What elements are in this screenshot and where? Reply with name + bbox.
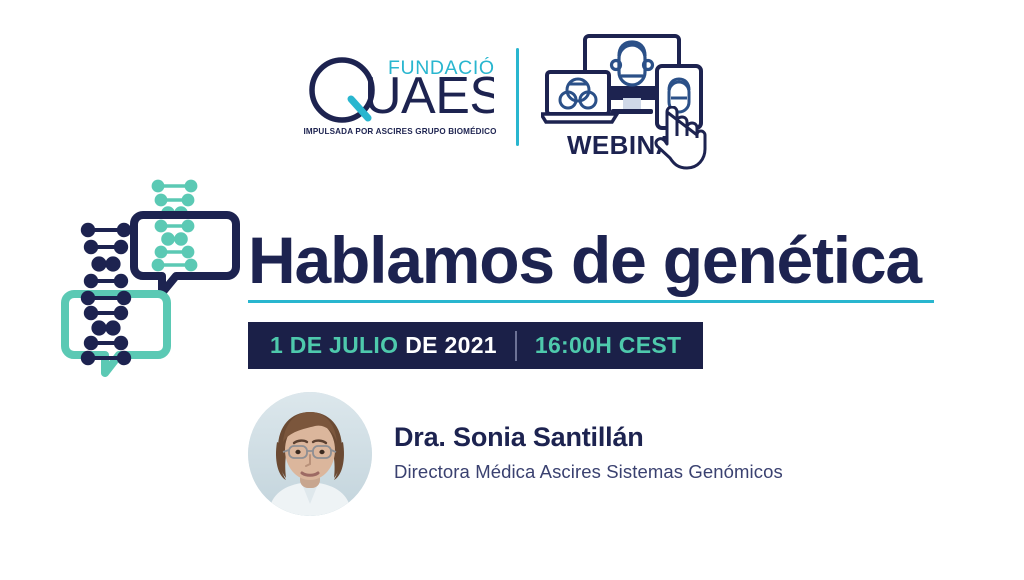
webinar-badge: WEBINAR [541, 34, 721, 164]
header: FUNDACIÓN UAES IMPULSADA POR ASCIRES GRU… [0, 34, 1024, 164]
laptop-icon [541, 72, 617, 122]
fundacion-quaes-logo: FUNDACIÓN UAES IMPULSADA POR ASCIRES GRU… [304, 48, 494, 160]
svg-text:UAES: UAES [364, 67, 494, 125]
title-underline-rule [248, 300, 934, 303]
event-year: DE 2021 [405, 332, 497, 358]
event-date: 1 DE JULIODE 2021 [270, 332, 497, 359]
event-time: 16:00H CEST [535, 332, 681, 359]
webinar-poster: FUNDACIÓN UAES IMPULSADA POR ASCIRES GRU… [0, 0, 1024, 580]
logo-tagline: IMPULSADA POR ASCIRES GRUPO BIOMÉDICO [304, 127, 494, 136]
avatar [248, 392, 372, 516]
quaes-wordmark: FUNDACIÓN UAES [304, 48, 494, 126]
event-day: 1 DE JULIO [270, 332, 398, 358]
vertical-divider [516, 48, 519, 146]
speaker-role: Directora Médica Ascires Sistemas Genómi… [394, 461, 783, 483]
speaker-block: Dra. Sonia Santillán Directora Médica As… [248, 392, 783, 516]
hand-pointer-icon [649, 106, 709, 172]
dna-bubbles-icon [60, 172, 240, 387]
dna-speech-bubbles-artwork [60, 172, 240, 392]
date-time-banner: 1 DE JULIODE 2021 16:00H CEST [248, 322, 703, 369]
speaker-text: Dra. Sonia Santillán Directora Médica As… [394, 422, 783, 487]
banner-separator [515, 331, 517, 361]
speaker-portrait-photo [248, 392, 372, 516]
page-title: Hablamos de genética [248, 222, 921, 298]
speaker-name: Dra. Sonia Santillán [394, 422, 783, 453]
magnifier-q-icon: FUNDACIÓN UAES [304, 48, 494, 126]
